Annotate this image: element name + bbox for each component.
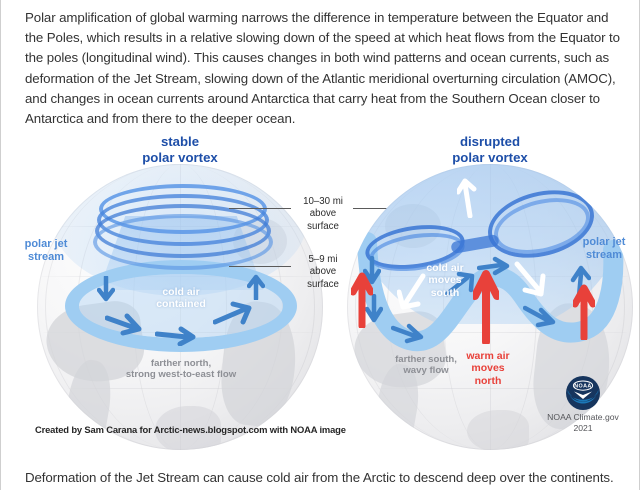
heading-line-2: polar vortex — [415, 150, 565, 166]
callout-10-30-mi: 10–30 mi above surface — [293, 196, 353, 233]
warm-air-line-2: moves — [447, 362, 529, 374]
cold-air-contained-label: cold air contained — [115, 286, 247, 311]
cold-air-arrow-icon — [513, 260, 547, 305]
figure-credit: Created by Sam Carana for Arctic-news.bl… — [35, 424, 346, 435]
jet-label-line-2: stream — [573, 249, 635, 262]
polar-jet-stream-label-right: polar jet stream — [573, 236, 635, 262]
cold-air-line-2: moves — [405, 274, 485, 286]
flow-note-line-1: farther north, — [73, 358, 289, 369]
polar-jet-stream-label-left: polar jet stream — [15, 238, 77, 264]
warm-air-line-1: warm air — [447, 350, 529, 362]
polar-vortex-figure: cold air contained farther north, strong… — [1, 126, 640, 446]
flow-arrow-icon — [155, 324, 199, 351]
heading-line-1: stable — [113, 134, 247, 150]
callout-upper-line-3: surface — [293, 221, 353, 233]
flow-arrow-icon — [97, 276, 115, 309]
heading-line-2: polar vortex — [113, 150, 247, 166]
outro-paragraph: Deformation of the Jet Stream can cause … — [25, 468, 625, 488]
globe-stable-vortex: cold air contained farther north, strong… — [37, 164, 323, 450]
callout-leader-line — [229, 208, 291, 209]
callout-5-9-mi: 5–9 mi above surface — [293, 254, 353, 291]
warm-air-moves-north-label: warm air moves north — [447, 350, 529, 387]
vortex-ring — [93, 214, 273, 270]
farther-north-note: farther north, strong west-to-east flow — [73, 358, 289, 381]
cold-air-moves-south-label: cold air moves south — [405, 262, 485, 299]
stable-vortex-heading: stable polar vortex — [113, 134, 247, 165]
flow-arrow-icon — [105, 310, 145, 341]
callout-leader-line — [229, 266, 291, 267]
intro-paragraph: Polar amplification of global warming na… — [25, 8, 621, 129]
noaa-caption-line-1: NOAA Climate.gov — [533, 412, 633, 423]
callout-lower-line-2: above — [293, 266, 353, 278]
disrupted-vortex-heading: disrupted polar vortex — [415, 134, 565, 165]
warm-air-line-3: north — [447, 375, 529, 387]
flow-arrow-icon — [391, 322, 425, 349]
callout-upper-line-1: 10–30 mi — [293, 196, 353, 208]
callout-lower-line-3: surface — [293, 279, 353, 291]
jet-label-line-2: stream — [15, 251, 77, 264]
cold-air-line-1: cold air — [405, 262, 485, 274]
jet-label-line-1: polar jet — [15, 238, 77, 251]
cold-air-line-2: contained — [115, 298, 247, 310]
noaa-logo-text: NOAA — [574, 384, 591, 390]
cold-air-line-1: cold air — [115, 286, 247, 298]
jet-label-line-1: polar jet — [573, 236, 635, 249]
noaa-caption-line-2: 2021 — [533, 423, 633, 434]
heading-line-1: disrupted — [415, 134, 565, 150]
warm-air-arrow-icon — [351, 270, 373, 333]
figure-page: Polar amplification of global warming na… — [0, 0, 640, 490]
noaa-logo-icon: NOAA — [566, 376, 600, 410]
flow-note-line-2: strong west-to-east flow — [73, 369, 289, 380]
noaa-attribution: NOAA NOAA Climate.gov 2021 — [533, 376, 633, 433]
cold-air-line-3: south — [405, 287, 485, 299]
callout-lower-line-1: 5–9 mi — [293, 254, 353, 266]
flow-arrow-icon — [523, 304, 557, 333]
cold-air-arrow-icon — [457, 178, 479, 223]
noaa-caption: NOAA Climate.gov 2021 — [533, 412, 633, 433]
callout-upper-line-2: above — [293, 208, 353, 220]
warm-air-arrow-icon — [573, 282, 595, 345]
